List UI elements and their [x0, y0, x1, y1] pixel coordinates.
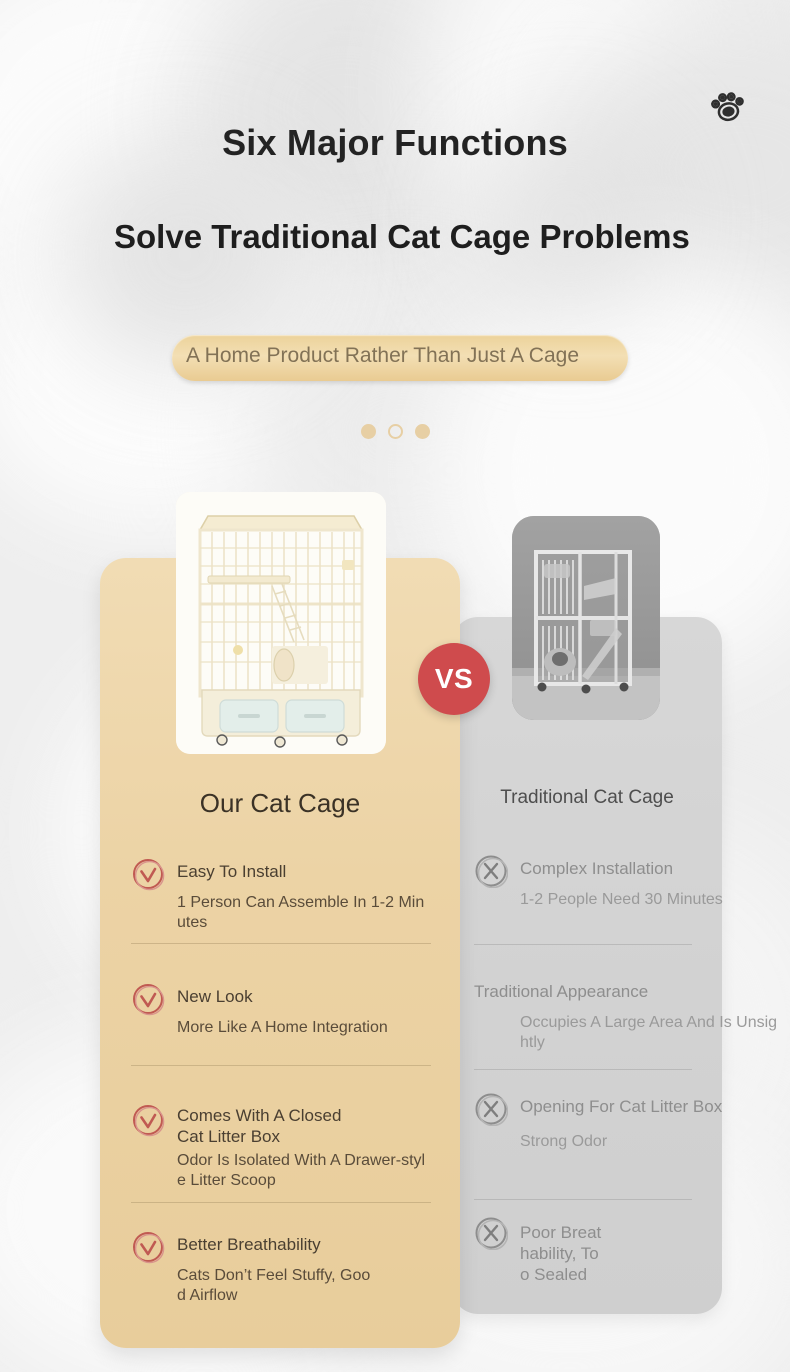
traditional-cage-card-title: Traditional Cat Cage: [452, 787, 722, 809]
traditional-feature-3-heading: Opening For Cat Litter Box: [520, 1096, 782, 1117]
x-circle-icon: [474, 1216, 508, 1250]
our-cage-image: [176, 492, 386, 754]
vs-badge: VS: [418, 643, 490, 715]
traditional-divider-2: [474, 1069, 692, 1070]
carousel-dots[interactable]: [0, 424, 790, 439]
x-circle-icon: [474, 854, 508, 888]
x-circle-icon: [474, 1092, 508, 1126]
check-circle-icon: [131, 1103, 165, 1137]
our-feature-4-desc: Cats Don’t Feel Stuffy, Good Airflow: [177, 1266, 377, 1306]
our-feature-1-desc: 1 Person Can Assemble In 1-2 Minutes: [177, 893, 425, 933]
traditional-feature-2-desc: Occupies A Large Area And Is Unsightly: [520, 1013, 778, 1053]
our-feature-4-heading: Better Breathability: [177, 1234, 427, 1255]
traditional-feature-3-desc: Strong Odor: [520, 1132, 750, 1152]
carousel-dot-1[interactable]: [361, 424, 376, 439]
our-feature-2-heading: New Look: [177, 986, 427, 1007]
carousel-dot-3[interactable]: [415, 424, 430, 439]
tagline-pill[interactable]: A Home Product Rather Than Just A Cage: [172, 335, 628, 381]
traditional-feature-1-heading: Complex Installation: [520, 858, 750, 879]
traditional-feature-4-heading: Poor Breathability, Too Sealed: [520, 1222, 608, 1285]
our-divider-3: [131, 1202, 431, 1203]
check-circle-icon: [131, 982, 165, 1016]
our-divider-2: [131, 1065, 431, 1066]
page-subtitle: Solve Traditional Cat Cage Problems: [114, 212, 694, 262]
carousel-dot-2[interactable]: [388, 424, 403, 439]
traditional-divider-1: [474, 944, 692, 945]
traditional-feature-1-desc: 1-2 People Need 30 Minutes: [520, 890, 750, 910]
our-cage-card-title: Our Cat Cage: [100, 788, 460, 819]
our-feature-3-heading: Comes With A Closed Cat Litter Box: [177, 1105, 349, 1147]
our-feature-1-heading: Easy To Install: [177, 861, 427, 882]
check-circle-icon: [131, 1230, 165, 1264]
our-feature-3-desc: Odor Is Isolated With A Drawer-style Lit…: [177, 1151, 429, 1191]
our-feature-2-desc: More Like A Home Integration: [177, 1018, 457, 1038]
our-divider-1: [131, 943, 431, 944]
page-title: Six Major Functions: [0, 122, 790, 164]
check-circle-icon: [131, 857, 165, 891]
traditional-divider-3: [474, 1199, 692, 1200]
traditional-cage-card: [452, 617, 722, 1314]
traditional-cage-image: [512, 516, 660, 720]
tagline-pill-label: A Home Product Rather Than Just A Cage: [186, 344, 656, 368]
traditional-feature-2-heading: Traditional Appearance: [474, 981, 734, 1002]
